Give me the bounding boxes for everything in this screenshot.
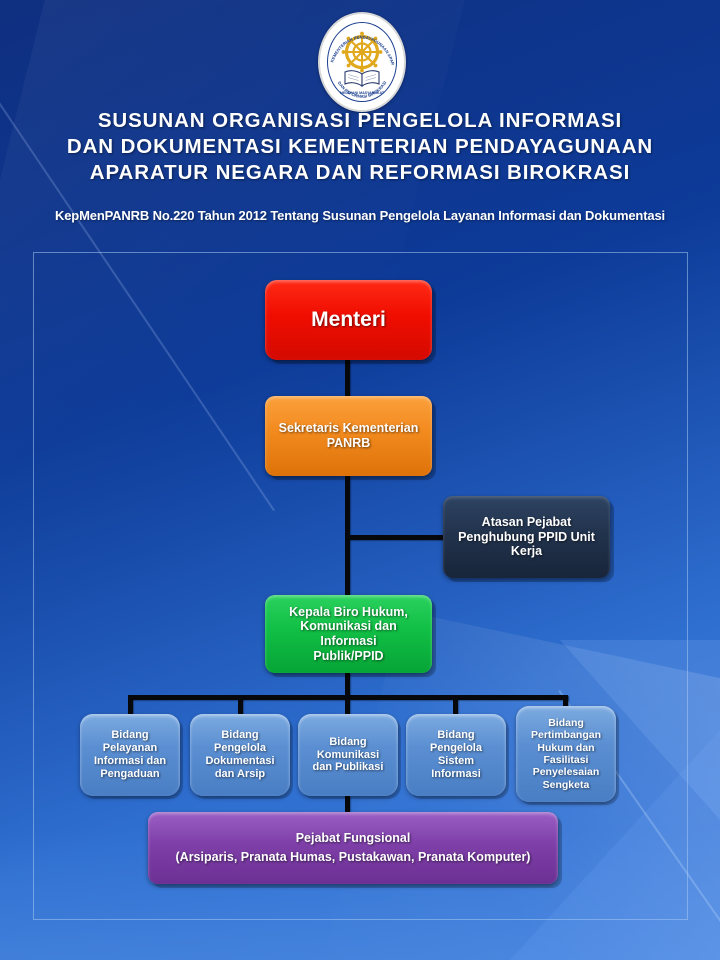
node-bidang-pertimbangan-hukum[interactable]: Bidang Pertimbangan Hukum dan Fasilitasi… — [516, 706, 616, 802]
node-bidang-pengelola-sistem-informasi[interactable]: Bidang Pengelola Sistem Informasi — [406, 714, 506, 796]
node-kabiro-label-1: Kepala Biro Hukum, — [289, 605, 408, 619]
title-line-2: DAN DOKUMENTASI KEMENTERIAN PENDAYAGUNAA… — [0, 134, 720, 160]
svg-text:KEMENTERIAN PENDAYAGUNAAN APAR: KEMENTERIAN PENDAYAGUNAAN APARATUR NEGAR… — [320, 14, 396, 66]
node-pejabat-fungsional[interactable]: Pejabat Fungsional (Arsiparis, Pranata H… — [148, 812, 558, 884]
node-bidang4-label-2: Pengelola — [430, 742, 482, 754]
node-bidang1-label-1: Bidang — [111, 729, 148, 741]
node-bidang1-label-2: Pelayanan — [103, 742, 157, 754]
node-atasan-label-3: Kerja — [511, 544, 542, 558]
node-sekretaris-kementerian[interactable]: Sekretaris Kementerian PANRB — [265, 396, 432, 476]
connector-menteri-to-sekretaris — [345, 360, 350, 396]
node-menteri-label: Menteri — [305, 308, 392, 333]
node-bidang2-label-2: Pengelola — [214, 742, 266, 754]
connector-kabiro-stub — [345, 673, 350, 697]
node-atasan-label-1: Atasan Pejabat — [482, 515, 572, 529]
node-bidang5-label-4: Fasilitasi — [544, 754, 589, 766]
node-bidang3-label-3: dan Publikasi — [313, 761, 384, 773]
node-bidang-komunikasi-publikasi[interactable]: Bidang Komunikasi dan Publikasi — [298, 714, 398, 796]
svg-text:MELAYANI MASYARAKAT: MELAYANI MASYARAKAT — [340, 91, 385, 95]
node-bidang4-label-4: Informasi — [431, 768, 481, 780]
node-bidang5-label-5: Penyelesaian — [533, 766, 600, 778]
node-bidang3-label-2: Komunikasi — [317, 749, 379, 761]
node-bidang5-label-6: Sengketa — [543, 779, 590, 791]
node-bidang5-label-3: Hukum dan — [537, 742, 594, 754]
node-fungsional-label-1: Pejabat Fungsional — [176, 831, 531, 846]
node-kepala-biro-hukum[interactable]: Kepala Biro Hukum, Komunikasi dan Inform… — [265, 595, 432, 673]
node-bidang3-label-1: Bidang — [329, 736, 366, 748]
node-bidang-pelayanan-informasi[interactable]: Bidang Pelayanan Informasi dan Pengaduan — [80, 714, 180, 796]
node-fungsional-label-2: (Arsiparis, Pranata Humas, Pustakawan, P… — [176, 850, 531, 865]
node-kabiro-label-3: Publik/PPID — [313, 649, 383, 663]
node-sekretaris-label-2: PANRB — [327, 436, 371, 450]
kemenpanrb-emblem-icon: KEMENTERIAN PENDAYAGUNAAN APARATUR NEGAR… — [318, 12, 406, 112]
node-bidang1-label-4: Pengaduan — [100, 768, 159, 780]
node-bidang2-label-4: dan Arsip — [215, 768, 265, 780]
node-menteri[interactable]: Menteri — [265, 280, 432, 360]
ministry-logo: KEMENTERIAN PENDAYAGUNAAN APARATUR NEGAR… — [318, 12, 402, 108]
node-bidang4-label-1: Bidang — [437, 729, 474, 741]
node-bidang2-label-3: Dokumentasi — [205, 755, 274, 767]
node-kabiro-label-2: Komunikasi dan Informasi — [300, 619, 397, 648]
connector-sekretaris-to-atasan — [345, 535, 445, 540]
title-line-3: APARATUR NEGARA DAN REFORMASI BIROKRASI — [0, 160, 720, 186]
node-sekretaris-label-1: Sekretaris Kementerian — [279, 421, 419, 435]
node-bidang2-label-1: Bidang — [221, 729, 258, 741]
poster-title: SUSUNAN ORGANISASI PENGELOLA INFORMASI D… — [0, 108, 720, 186]
node-atasan-pejabat-penghubung[interactable]: Atasan Pejabat Penghubung PPID Unit Kerj… — [443, 496, 610, 578]
title-line-1: SUSUNAN ORGANISASI PENGELOLA INFORMASI — [0, 108, 720, 134]
node-bidang5-label-1: Bidang — [548, 717, 584, 729]
organization-chart-poster: KEMENTERIAN PENDAYAGUNAAN APARATUR NEGAR… — [0, 0, 720, 960]
node-bidang1-label-3: Informasi dan — [94, 755, 166, 767]
node-bidang-pengelola-dokumentasi[interactable]: Bidang Pengelola Dokumentasi dan Arsip — [190, 714, 290, 796]
poster-subtitle: KepMenPANRB No.220 Tahun 2012 Tentang Su… — [0, 208, 720, 223]
node-bidang5-label-2: Pertimbangan — [531, 729, 601, 741]
emblem-artwork-icon: KEMENTERIAN PENDAYAGUNAAN APARATUR NEGAR… — [320, 14, 404, 110]
node-atasan-label-2: Penghubung PPID Unit — [458, 530, 595, 544]
node-bidang4-label-3: Sistem — [438, 755, 474, 767]
